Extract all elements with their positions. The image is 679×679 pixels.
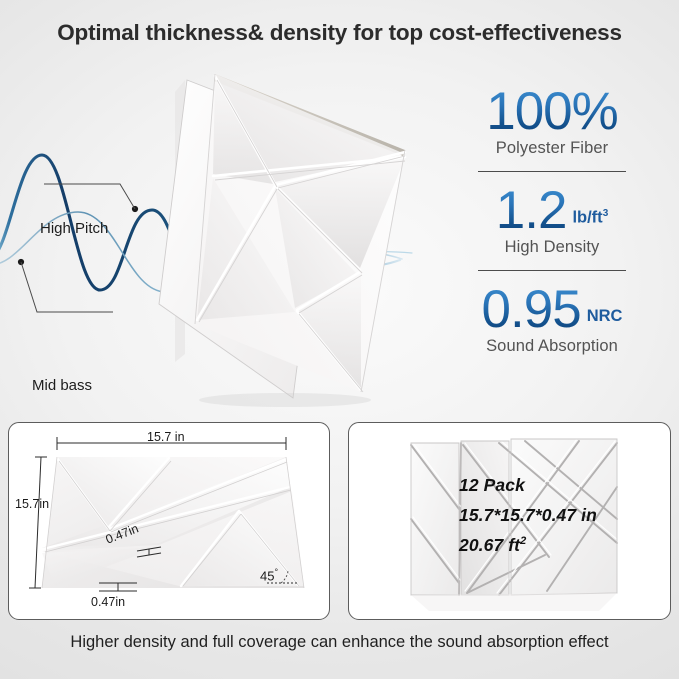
wave-label-high-pitch: High Pitch <box>40 220 108 237</box>
wave-label-mid-bass: Mid bass <box>32 377 92 394</box>
pack-reflection <box>411 593 617 611</box>
stat-caption: Sound Absorption <box>425 337 679 356</box>
dimension-thickness-bottom-label: 0.47in <box>91 595 125 609</box>
stat-divider-2 <box>478 270 626 271</box>
page-title: Optimal thickness& density for top cost-… <box>0 20 679 46</box>
stat-value-row: 0.95 NRC <box>425 283 679 336</box>
acoustic-panel-3d-hero <box>155 62 425 412</box>
pack-line-dimensions: 15.7*15.7*0.47 in <box>459 505 597 526</box>
stat-value: 100% <box>486 85 618 138</box>
stat-value: 1.2 <box>496 184 567 237</box>
pack-line-coverage: 20.67 ft2 <box>459 535 526 556</box>
stat-unit: NRC <box>587 308 623 325</box>
stats-panel: 100% Polyester Fiber 1.2 lb/ft3 High Den… <box>425 85 679 410</box>
acoustic-panel-svg <box>155 62 425 412</box>
mid-bass-leader-line <box>21 262 113 312</box>
infographic-root: Optimal thickness& density for top cost-… <box>0 0 679 679</box>
stat-high-density: 1.2 lb/ft3 High Density <box>425 184 679 257</box>
dimension-angle-label: 45° <box>260 567 278 583</box>
footer-text: Higher density and full coverage can enh… <box>0 633 679 652</box>
stat-unit: lb/ft3 <box>572 209 608 226</box>
stat-caption: High Density <box>425 238 679 257</box>
stat-value-row: 100% <box>425 85 679 138</box>
pack-line-quantity: 12 Pack <box>459 475 525 496</box>
stat-caption: Polyester Fiber <box>425 139 679 158</box>
stat-polyester-fiber: 100% Polyester Fiber <box>425 85 679 158</box>
stat-sound-absorption: 0.95 NRC Sound Absorption <box>425 283 679 356</box>
high-pitch-leader-line <box>44 184 135 209</box>
pack-info-card: 12 Pack 15.7*15.7*0.47 in 20.67 ft2 <box>348 422 671 620</box>
stat-divider-1 <box>478 171 626 172</box>
dimension-width-label: 15.7 in <box>147 430 185 444</box>
panel-drop-shadow <box>199 393 371 407</box>
stat-value: 0.95 <box>482 283 581 336</box>
dimension-card: 15.7 in 15.7in 0.47in 0.47in 45° <box>8 422 330 620</box>
dimension-card-svg <box>9 423 328 618</box>
stat-value-row: 1.2 lb/ft3 <box>425 184 679 237</box>
dimension-height-label: 15.7in <box>15 497 49 511</box>
